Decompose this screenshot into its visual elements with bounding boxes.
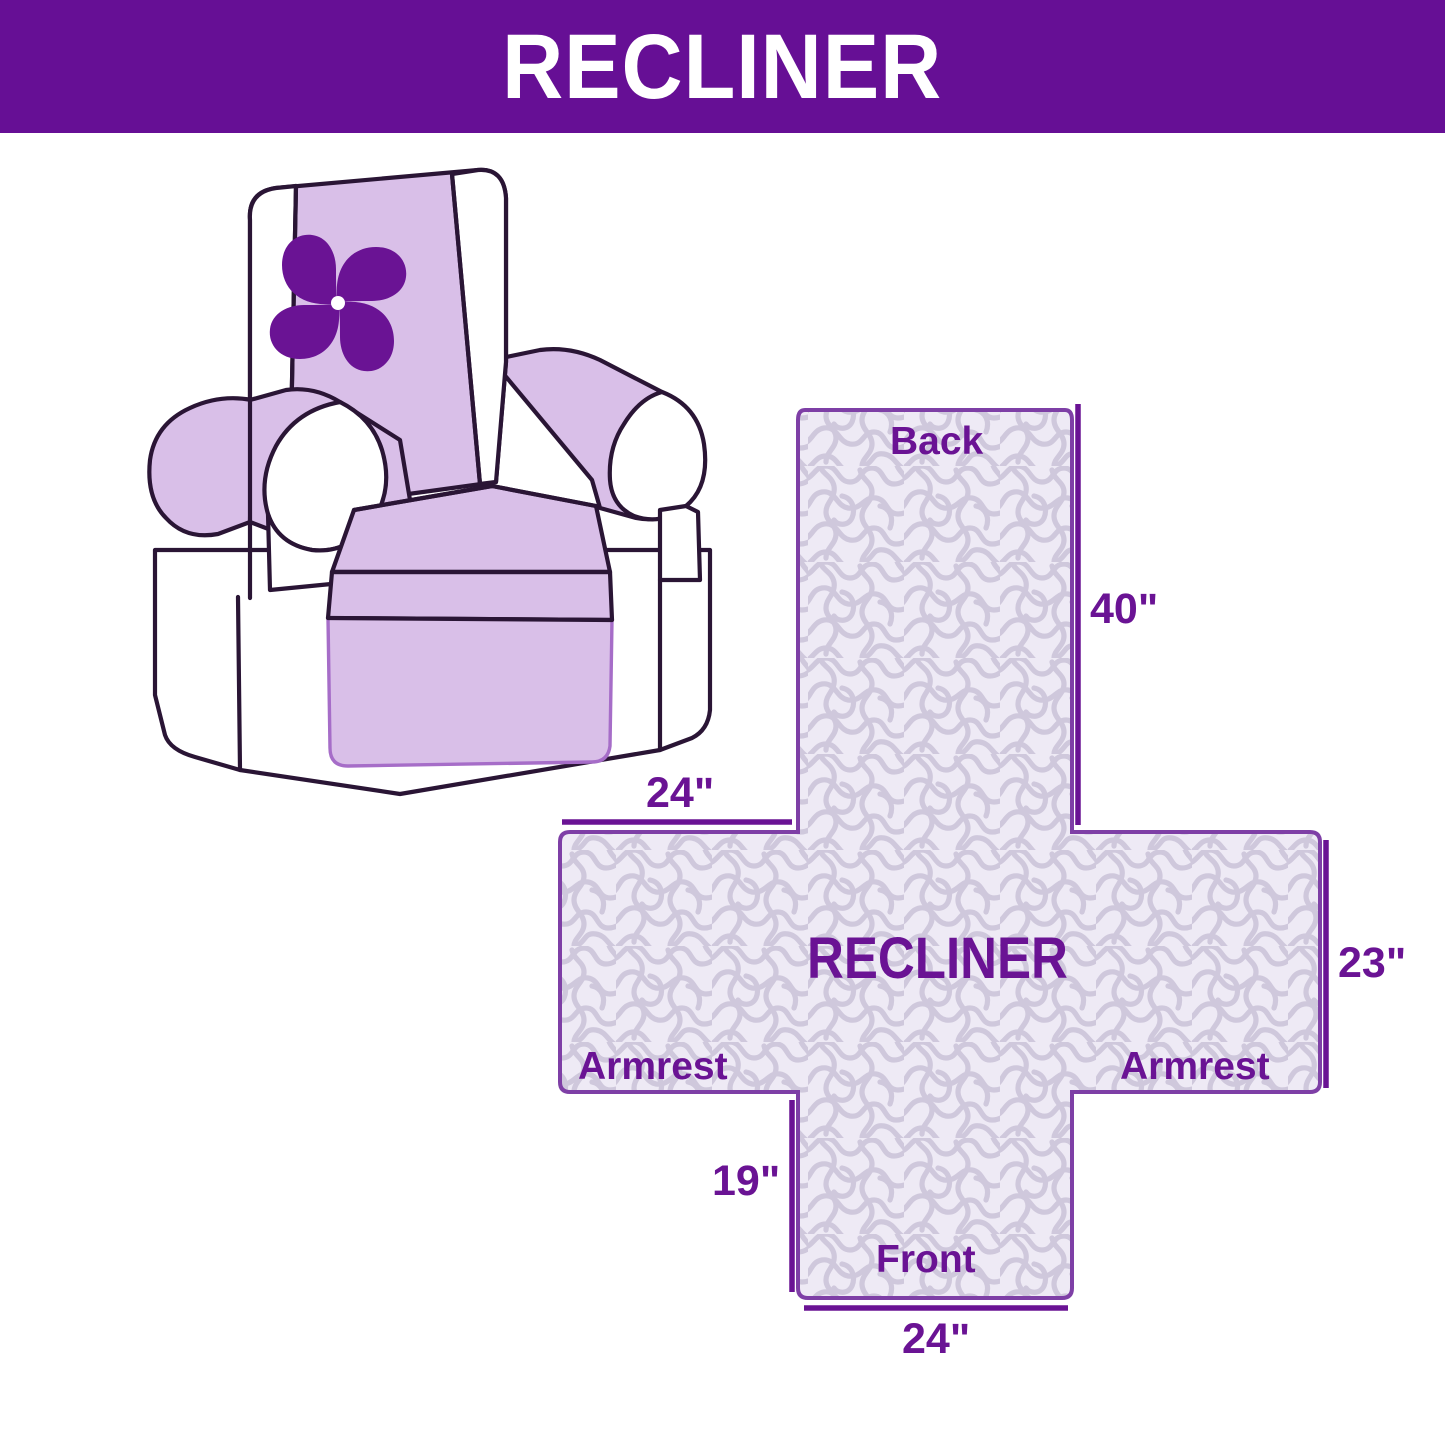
center-label-recliner: RECLINER: [807, 930, 1068, 988]
dim-label-23: 23": [1338, 942, 1406, 985]
dim-label-24-bottom: 24": [902, 1318, 970, 1361]
dim-label-24-top: 24": [646, 772, 714, 815]
panel-label-armrest-right: Armrest: [1120, 1047, 1270, 1086]
cover-layout-diagram: Back RECLINER Armrest Armrest Front 40" …: [520, 370, 1445, 1390]
product-dimension-diagram: RECLINER: [0, 0, 1445, 1445]
panel-label-front: Front: [876, 1240, 976, 1279]
page-title: RECLINER: [503, 21, 943, 113]
panel-label-armrest-left: Armrest: [578, 1047, 728, 1086]
cover-cross-shape: [560, 410, 1320, 1298]
panel-label-back: Back: [890, 422, 983, 461]
dim-label-40: 40": [1090, 588, 1158, 631]
dim-label-19: 19": [712, 1160, 780, 1203]
header-banner: RECLINER: [0, 0, 1445, 133]
